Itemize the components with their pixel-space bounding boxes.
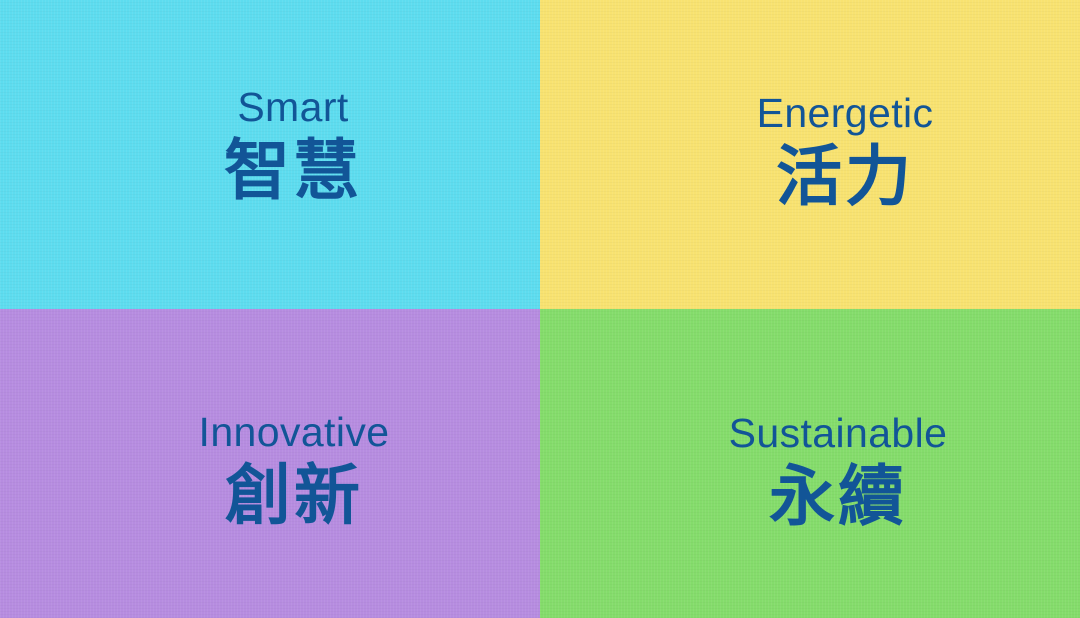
chinese-label-innovative: 創新 xyxy=(225,459,363,533)
text-block-energetic: Energetic 活力 xyxy=(757,91,934,213)
text-block-smart: Smart 智慧 xyxy=(224,85,362,207)
quadrant-sustainable[interactable]: Sustainable 永續 xyxy=(540,309,1080,618)
quadrant-smart[interactable]: Smart 智慧 xyxy=(0,0,540,309)
chinese-label-sustainable: 永續 xyxy=(769,460,907,534)
english-label-innovative: Innovative xyxy=(199,410,390,454)
english-label-sustainable: Sustainable xyxy=(729,411,948,455)
brand-values-grid: Smart 智慧 Energetic 活力 Innovative 創新 Sust… xyxy=(0,0,1080,618)
quadrant-energetic[interactable]: Energetic 活力 xyxy=(540,0,1080,309)
chinese-label-energetic: 活力 xyxy=(776,140,914,214)
text-block-sustainable: Sustainable 永續 xyxy=(729,411,948,533)
chinese-label-smart: 智慧 xyxy=(224,134,362,208)
english-label-energetic: Energetic xyxy=(757,91,934,135)
text-block-innovative: Innovative 創新 xyxy=(199,410,390,532)
quadrant-innovative[interactable]: Innovative 創新 xyxy=(0,309,540,618)
english-label-smart: Smart xyxy=(237,85,348,129)
